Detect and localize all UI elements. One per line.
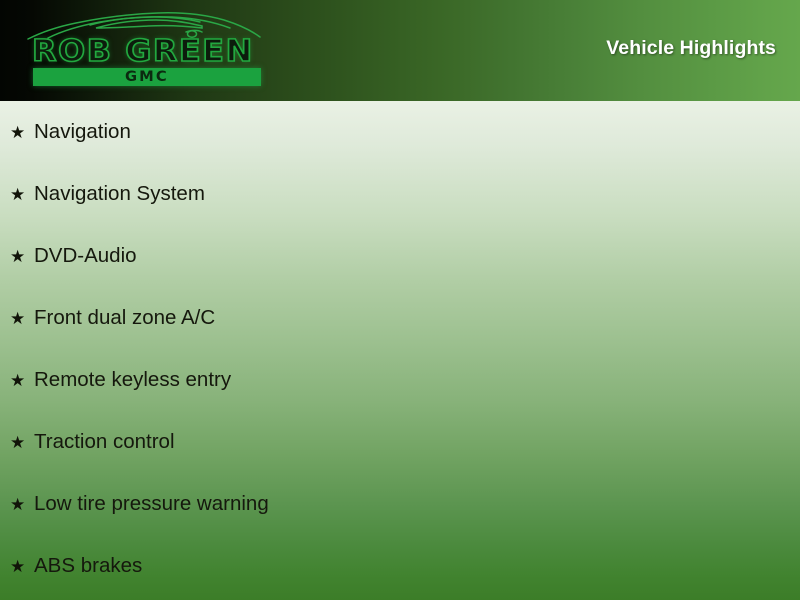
star-bullet-icon: ★	[10, 124, 34, 141]
logo-wordmark: ROB GREEN	[32, 35, 286, 68]
logo-brand-text: GMC	[125, 68, 169, 86]
slide-header: ROB GREEN GMC Vehicle Highlights	[0, 0, 800, 101]
highlight-label: Navigation System	[34, 184, 205, 205]
star-bullet-icon: ★	[10, 558, 34, 575]
list-item: ★ ABS brakes	[0, 535, 800, 597]
list-item: ★ DVD-Audio	[0, 225, 800, 287]
list-item: ★ Low tire pressure warning	[0, 473, 800, 535]
list-item: ★ Navigation System	[0, 163, 800, 225]
list-item: ★ Remote keyless entry	[0, 349, 800, 411]
highlight-label: Front dual zone A/C	[34, 308, 215, 329]
highlight-label: ABS brakes	[34, 556, 142, 577]
highlight-label: DVD-Audio	[34, 246, 137, 267]
vehicle-highlights-slide: ROB GREEN GMC Vehicle Highlights ★ Navig…	[0, 0, 800, 600]
vehicle-highlights-list: ★ Navigation ★ Navigation System ★ DVD-A…	[0, 101, 800, 597]
list-item: ★ Navigation	[0, 101, 800, 163]
highlight-label: Traction control	[34, 432, 175, 453]
star-bullet-icon: ★	[10, 372, 34, 389]
star-bullet-icon: ★	[10, 310, 34, 327]
star-bullet-icon: ★	[10, 186, 34, 203]
highlight-label: Navigation	[34, 122, 131, 143]
star-bullet-icon: ★	[10, 496, 34, 513]
list-item: ★ Front dual zone A/C	[0, 287, 800, 349]
star-bullet-icon: ★	[10, 248, 34, 265]
page-title: Vehicle Highlights	[606, 37, 776, 60]
dealer-logo[interactable]: ROB GREEN GMC	[20, 8, 270, 92]
list-item: ★ Traction control	[0, 411, 800, 473]
highlight-label: Remote keyless entry	[34, 370, 231, 391]
highlight-label: Low tire pressure warning	[34, 494, 269, 515]
star-bullet-icon: ★	[10, 434, 34, 451]
logo-brand-bar: GMC	[33, 68, 261, 86]
